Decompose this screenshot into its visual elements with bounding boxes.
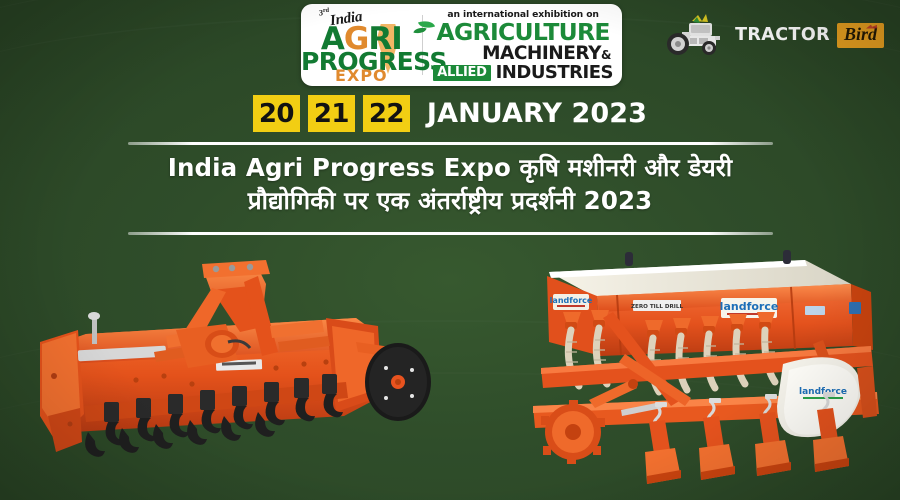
tractor-icon xyxy=(662,12,728,58)
allied-chip: ALLIED xyxy=(433,65,490,81)
rotavator-image xyxy=(26,256,436,492)
divider-bottom xyxy=(128,232,773,235)
event-logo-badge[interactable]: 3rd India AGRI PROGRESS EXPO an internat… xyxy=(301,4,622,86)
page-title: India Agri Progress Expo कृषि मशीनरी और … xyxy=(60,152,840,218)
rotavator-illustration xyxy=(26,256,436,492)
poster-canvas: 3rd India AGRI PROGRESS EXPO an internat… xyxy=(0,0,900,500)
expo-wordmark: EXPO xyxy=(301,68,422,84)
machinery-heading: MACHINERY& xyxy=(433,44,613,64)
allied-industries-heading: ALLIED INDUSTRIES xyxy=(433,64,613,82)
day-box: 21 xyxy=(308,95,355,132)
ampersand-label: & xyxy=(601,48,611,62)
brand-badge-label: landforce xyxy=(550,296,593,305)
agri-progress-expo-logo: 3rd India AGRI PROGRESS EXPO xyxy=(301,4,422,86)
industries-label: INDUSTRIES xyxy=(496,64,613,82)
divider-top xyxy=(128,142,773,145)
brand-badge-label: landforce xyxy=(720,300,779,313)
month-year-label: JANUARY 2023 xyxy=(427,98,647,129)
exhibition-description: an international exhibition on AGRICULTU… xyxy=(423,4,622,86)
tractorbird-brand-logo[interactable]: TRACTOR Bird xyxy=(662,12,884,58)
event-date-row: 20 21 22 JANUARY 2023 xyxy=(0,95,900,132)
seed-drill-illustration: landforce landforce ZERO TILL DRILL xyxy=(505,250,897,496)
brand-name-label: TRACTOR xyxy=(735,25,830,45)
day-box: 20 xyxy=(253,95,300,132)
brand-suffix-chip: Bird xyxy=(837,23,884,48)
headline-line-2: प्रौद्योगिकी पर एक अंतर्राष्ट्रीय प्रदर्… xyxy=(60,185,840,218)
model-plate-label: ZERO TILL DRILL xyxy=(631,304,683,310)
headline-line-1: India Agri Progress Expo कृषि मशीनरी और … xyxy=(168,153,733,182)
ordinal-label: 3rd xyxy=(319,8,329,18)
day-box: 22 xyxy=(363,95,410,132)
agriculture-heading: AGRICULTURE xyxy=(433,20,613,44)
seed-drill-image: landforce landforce ZERO TILL DRILL xyxy=(505,250,897,496)
